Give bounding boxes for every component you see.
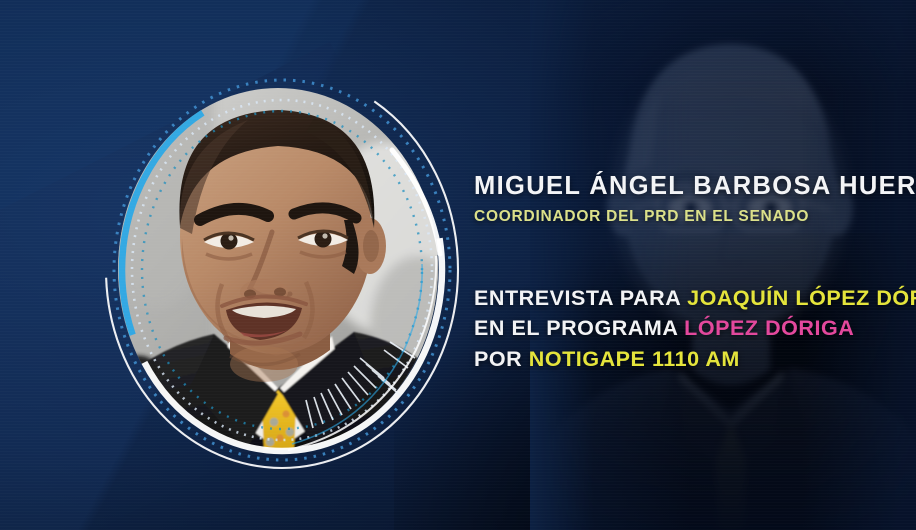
program-line-highlight: JOAQUÍN LÓPEZ DÓRIGA <box>687 286 916 310</box>
program-info-lines: ENTREVISTA PARA JOAQUÍN LÓPEZ DÓRIGAEN E… <box>474 283 914 374</box>
program-line-highlight: LÓPEZ DÓRIGA <box>684 316 854 340</box>
program-line: ENTREVISTA PARA JOAQUÍN LÓPEZ DÓRIGA <box>474 283 914 313</box>
program-line-prefix: POR <box>474 347 529 371</box>
speaker-portrait <box>118 88 438 450</box>
speaker-info-block: MIGUEL ÁNGEL BARBOSA HUERTA COORDINADOR … <box>474 172 904 225</box>
speaker-name: MIGUEL ÁNGEL BARBOSA HUERTA <box>474 172 904 201</box>
program-line-highlight: NOTIGAPE 1110 AM <box>529 347 740 371</box>
program-line: POR NOTIGAPE 1110 AM <box>474 344 914 374</box>
speaker-portrait-photo <box>118 88 438 450</box>
ghost-portrait-fade <box>530 0 916 530</box>
speaker-role: COORDINADOR DEL PRD EN EL SENADO <box>474 208 904 225</box>
broadcast-lower-third-graphic: MIGUEL ÁNGEL BARBOSA HUERTA COORDINADOR … <box>0 0 916 530</box>
program-line: EN EL PROGRAMA LÓPEZ DÓRIGA <box>474 313 914 343</box>
program-line-prefix: EN EL PROGRAMA <box>474 316 684 340</box>
program-line-prefix: ENTREVISTA PARA <box>474 286 687 310</box>
